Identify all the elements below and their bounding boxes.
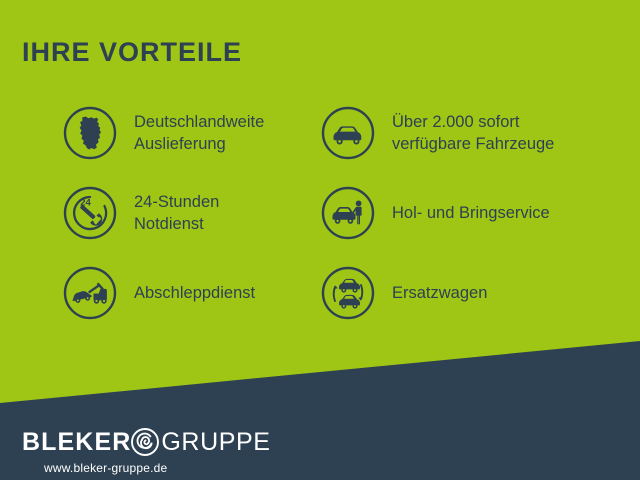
benefit-item: Über 2.000 sofort verfügbare Fahrzeuge [320, 93, 620, 173]
germany-map-icon [62, 105, 118, 161]
advantages-slide: IHRE VORTEILE Deutschlandweite Ausliefer… [0, 0, 640, 480]
website-url[interactable]: www.bleker-gruppe.de [44, 461, 167, 475]
benefit-label: Abschleppdienst [134, 282, 255, 304]
benefits-column-right: Über 2.000 sofort verfügbare Fahrzeuge [320, 93, 620, 333]
benefit-item: Deutschlandweite Auslieferung [62, 93, 312, 173]
clock-24-wrench-icon: 24 [62, 185, 118, 241]
benefit-item: 24 24-Stunden Notdienst [62, 173, 312, 253]
tow-truck-icon [62, 265, 118, 321]
benefit-label: Deutschlandweite Auslieferung [134, 111, 264, 156]
car-icon [320, 105, 376, 161]
benefits-column-left: Deutschlandweite Auslieferung 24 [62, 93, 312, 333]
benefit-item: Ersatzwagen [320, 253, 620, 333]
spiral-circle-icon [130, 427, 160, 457]
benefit-label: 24-Stunden Notdienst [134, 191, 219, 236]
benefit-label: Über 2.000 sofort verfügbare Fahrzeuge [392, 111, 554, 156]
benefit-item: Abschleppdienst [62, 253, 312, 333]
logo-text-bleker: BLEKER [22, 430, 131, 455]
car-with-person-icon [320, 185, 376, 241]
two-cars-exchange-icon [320, 265, 376, 321]
logo-text-gruppe: GRUPPE [161, 430, 270, 455]
company-logo[interactable]: BLEKER GRUPPE [22, 425, 271, 459]
benefit-label: Hol- und Bringservice [392, 202, 550, 224]
benefit-label: Ersatzwagen [392, 282, 487, 304]
page-title: IHRE VORTEILE [22, 37, 242, 68]
benefit-item: Hol- und Bringservice [320, 173, 620, 253]
